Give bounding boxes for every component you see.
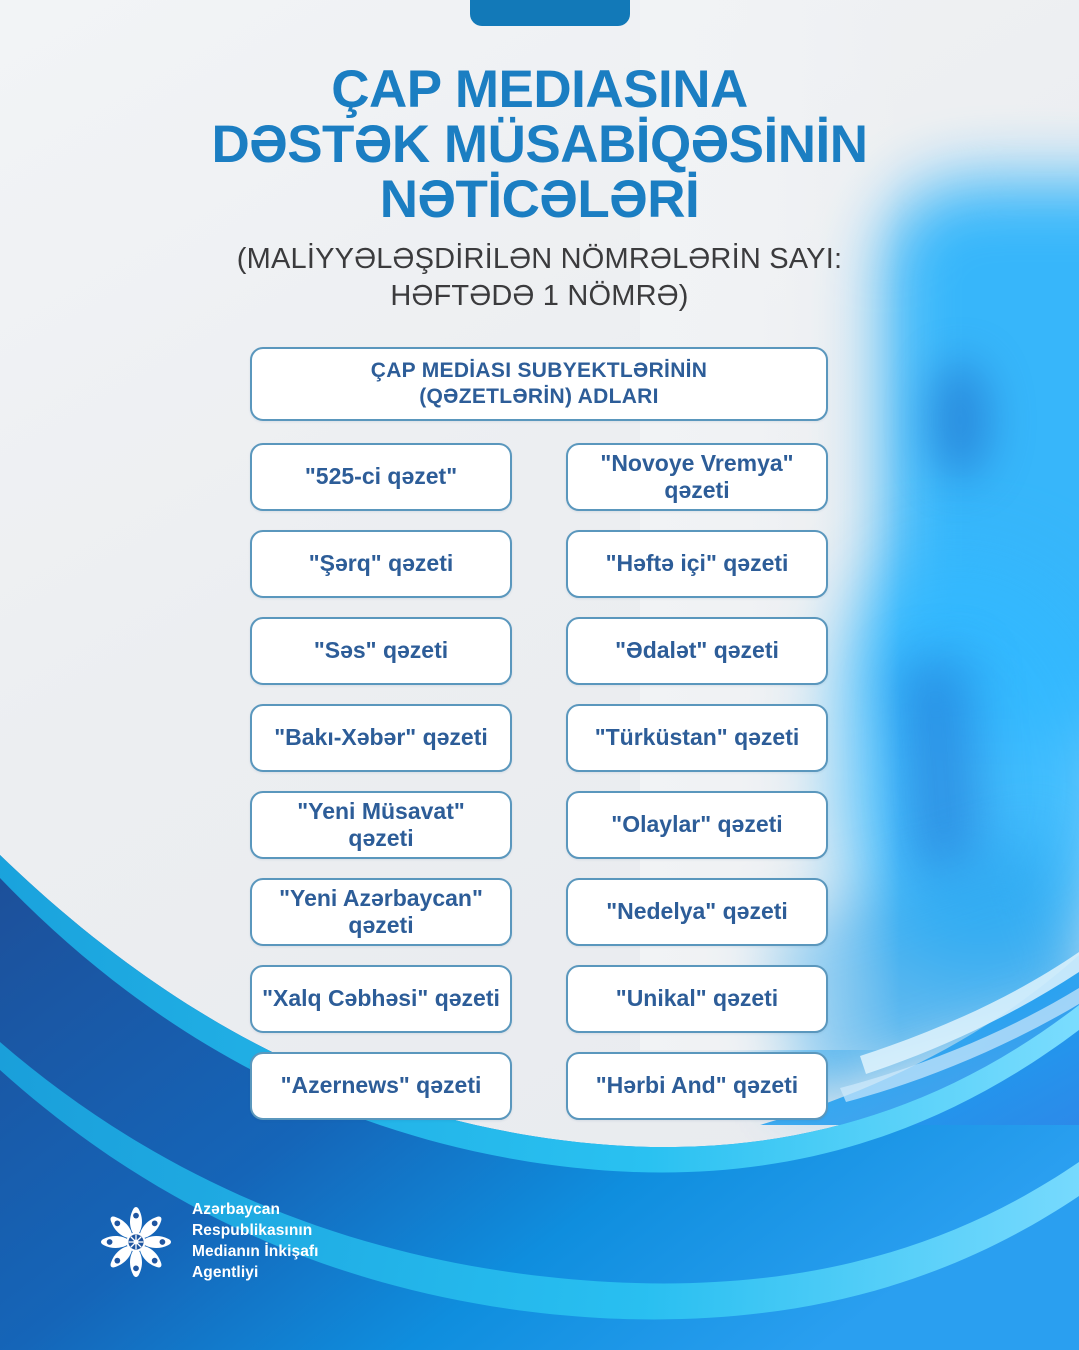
newspaper-card[interactable]: "Novoye Vremya" qəzeti [566, 443, 828, 511]
newspaper-list-panel: ÇAP MEDİASI SUBYEKTLƏRİNİN (QƏZETLƏRİN) … [250, 347, 828, 1120]
newspaper-card[interactable]: "Unikal" qəzeti [566, 965, 828, 1033]
newspaper-card[interactable]: "Nedelya" qəzeti [566, 878, 828, 946]
top-tab-accent [470, 0, 630, 26]
newspaper-card[interactable]: "Həftə içi" qəzeti [566, 530, 828, 598]
page-subtitle-line-2: HƏFTƏDƏ 1 NÖMRƏ) [0, 278, 1079, 315]
column-header-line-2: (QƏZETLƏRİN) ADLARI [419, 385, 659, 408]
page-title-line-3: NƏTİCƏLƏRİ [0, 172, 1079, 227]
newspaper-card[interactable]: "Yeni Müsavat" qəzeti [250, 791, 512, 859]
newspaper-card[interactable]: "Xalq Cəbhəsi" qəzeti [250, 965, 512, 1033]
eight-petal-rosette-icon [96, 1198, 176, 1286]
column-header-card: ÇAP MEDİASI SUBYEKTLƏRİNİN (QƏZETLƏRİN) … [250, 347, 828, 421]
infographic-poster: ÇAP MEDIASINA DƏSTƏK MÜSABİQƏSİNİN NƏTİC… [0, 0, 1079, 1350]
newspaper-card[interactable]: "Hərbi And" qəzeti [566, 1052, 828, 1120]
heading-block: ÇAP MEDIASINA DƏSTƏK MÜSABİQƏSİNİN NƏTİC… [0, 62, 1079, 316]
page-title: ÇAP MEDIASINA DƏSTƏK MÜSABİQƏSİNİN NƏTİC… [0, 62, 1079, 227]
page-subtitle: (MALİYYƏLƏŞDİRİLƏN NÖMRƏLƏRİN SAYI: HƏFT… [0, 241, 1079, 315]
agency-name-label: Azərbaycan Respublikasının Medianın İnki… [192, 1200, 319, 1283]
newspaper-card[interactable]: "Türküstan" qəzeti [566, 704, 828, 772]
agency-footer: Azərbaycan Respublikasının Medianın İnki… [96, 1198, 319, 1286]
newspaper-card[interactable]: "Azernews" qəzeti [250, 1052, 512, 1120]
column-header-line-1: ÇAP MEDİASI SUBYEKTLƏRİNİN [371, 359, 708, 382]
newspaper-card[interactable]: "525-ci qəzet" [250, 443, 512, 511]
newspaper-card[interactable]: "Səs" qəzeti [250, 617, 512, 685]
newspaper-card[interactable]: "Yeni Azərbaycan" qəzeti [250, 878, 512, 946]
page-subtitle-line-1: (MALİYYƏLƏŞDİRİLƏN NÖMRƏLƏRİN SAYI: [0, 241, 1079, 278]
page-title-line-1: ÇAP MEDIASINA [0, 62, 1079, 117]
newspaper-card[interactable]: "Şərq" qəzeti [250, 530, 512, 598]
newspaper-card[interactable]: "Bakı-Xəbər" qəzeti [250, 704, 512, 772]
newspaper-card[interactable]: "Olaylar" qəzeti [566, 791, 828, 859]
newspaper-card[interactable]: "Ədalət" qəzeti [566, 617, 828, 685]
newspaper-grid: "525-ci qəzet" "Novoye Vremya" qəzeti "Ş… [250, 443, 828, 1120]
page-title-line-2: DƏSTƏK MÜSABİQƏSİNİN [0, 117, 1079, 172]
